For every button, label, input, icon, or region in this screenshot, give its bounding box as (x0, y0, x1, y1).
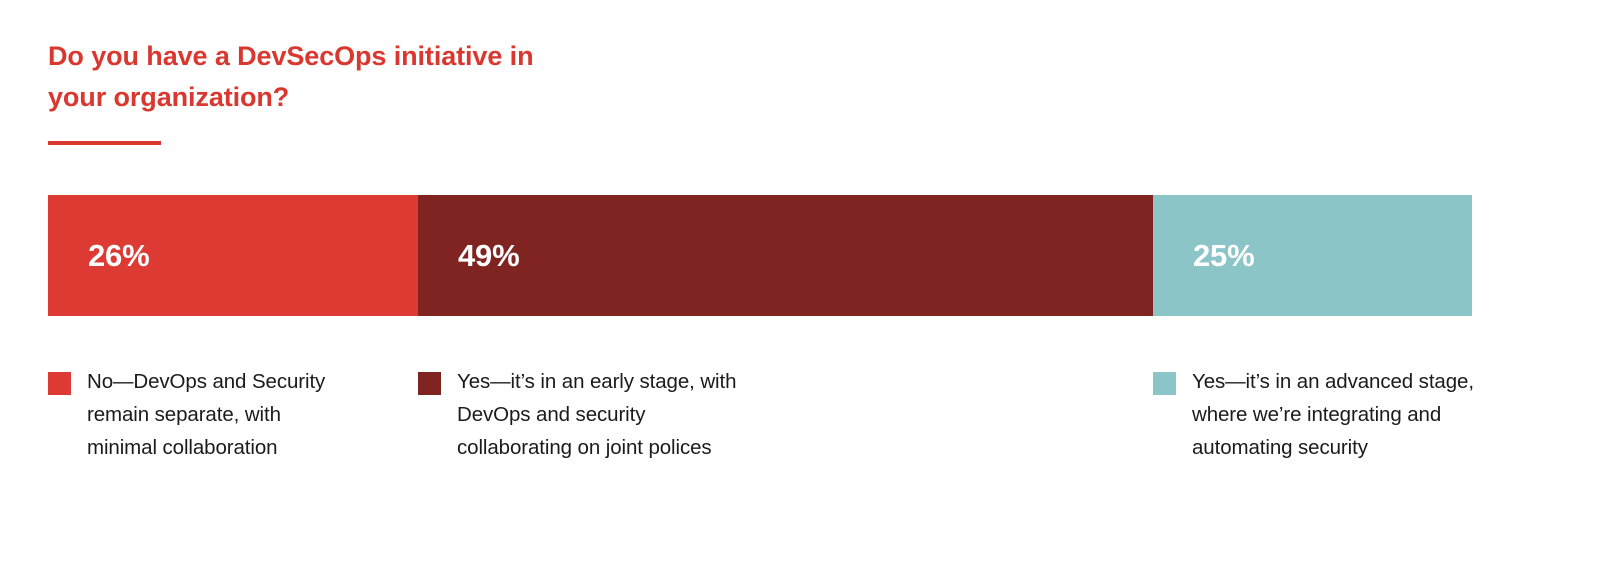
bar-segment-label-3: 25% (1153, 240, 1254, 271)
chart-title: Do you have a DevSecOps initiative in yo… (48, 36, 748, 118)
chart-title-block: Do you have a DevSecOps initiative in yo… (48, 36, 748, 118)
chart-canvas: Do you have a DevSecOps initiative in yo… (0, 0, 1612, 570)
legend-item-yes-advanced-stage[interactable]: Yes—it’s in an advanced stage, where we’… (1153, 365, 1583, 464)
stacked-bar-chart: 26% 49% 25% (48, 195, 1472, 316)
legend-item-no-separate[interactable]: No—DevOps and Security remain separate, … (48, 365, 408, 464)
legend-item-yes-early-stage[interactable]: Yes—it’s in an early stage, with DevOps … (418, 365, 818, 464)
chart-legend: No—DevOps and Security remain separate, … (0, 365, 1612, 475)
legend-label-3: Yes—it’s in an advanced stage, where we’… (1192, 365, 1474, 464)
legend-swatch-icon-maroon (418, 372, 441, 395)
bar-segment-yes-advanced-stage[interactable]: 25% (1153, 195, 1472, 316)
bar-segment-label-2: 49% (418, 240, 519, 271)
legend-swatch-icon-red (48, 372, 71, 395)
legend-label-1: No—DevOps and Security remain separate, … (87, 365, 325, 464)
bar-segment-label-1: 26% (48, 240, 149, 271)
bar-segment-no-separate[interactable]: 26% (48, 195, 418, 316)
title-underline-rule (48, 141, 161, 145)
legend-swatch-icon-teal (1153, 372, 1176, 395)
bar-segment-yes-early-stage[interactable]: 49% (418, 195, 1153, 316)
legend-label-2: Yes—it’s in an early stage, with DevOps … (457, 365, 736, 464)
